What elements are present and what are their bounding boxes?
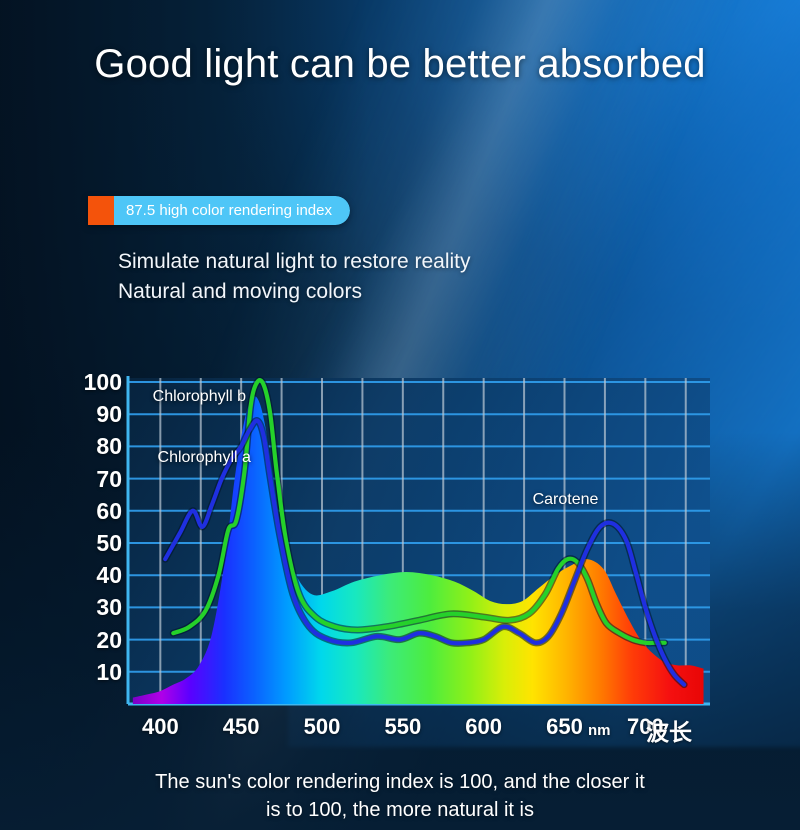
x-tick-450: 450	[223, 714, 260, 740]
annotation-carotene: Carotene	[533, 491, 599, 509]
annotation-chlorophyll-a: Chlorophyll a	[158, 449, 251, 467]
x-axis-name-cn: 波长	[646, 713, 692, 747]
footer-line-1: The sun's color rendering index is 100, …	[0, 768, 800, 796]
y-tick-50: 50	[96, 532, 122, 555]
y-tick-100: 100	[84, 371, 122, 394]
y-tick-20: 20	[96, 629, 122, 652]
y-tick-70: 70	[96, 468, 122, 491]
absorption-spectrum-chart: 102030405060708090100 400450500550600650…	[0, 0, 800, 830]
y-tick-90: 90	[96, 403, 122, 426]
x-tick-600: 600	[465, 714, 502, 740]
x-tick-400: 400	[142, 714, 179, 740]
y-tick-60: 60	[96, 500, 122, 523]
x-tick-550: 550	[384, 714, 421, 740]
x-axis-unit: nm	[588, 722, 611, 739]
footer-line-2: is to 100, the more natural it is	[0, 796, 800, 824]
slide-canvas: Good light can be better absorbed 87.5 h…	[0, 0, 800, 830]
footer-caption: The sun's color rendering index is 100, …	[0, 768, 800, 824]
y-tick-10: 10	[96, 661, 122, 684]
y-tick-30: 30	[96, 596, 122, 619]
x-tick-500: 500	[304, 714, 341, 740]
y-tick-80: 80	[96, 435, 122, 458]
annotation-chlorophyll-b: Chlorophyll b	[153, 388, 246, 406]
x-tick-650: 650	[546, 714, 583, 740]
y-tick-40: 40	[96, 564, 122, 587]
